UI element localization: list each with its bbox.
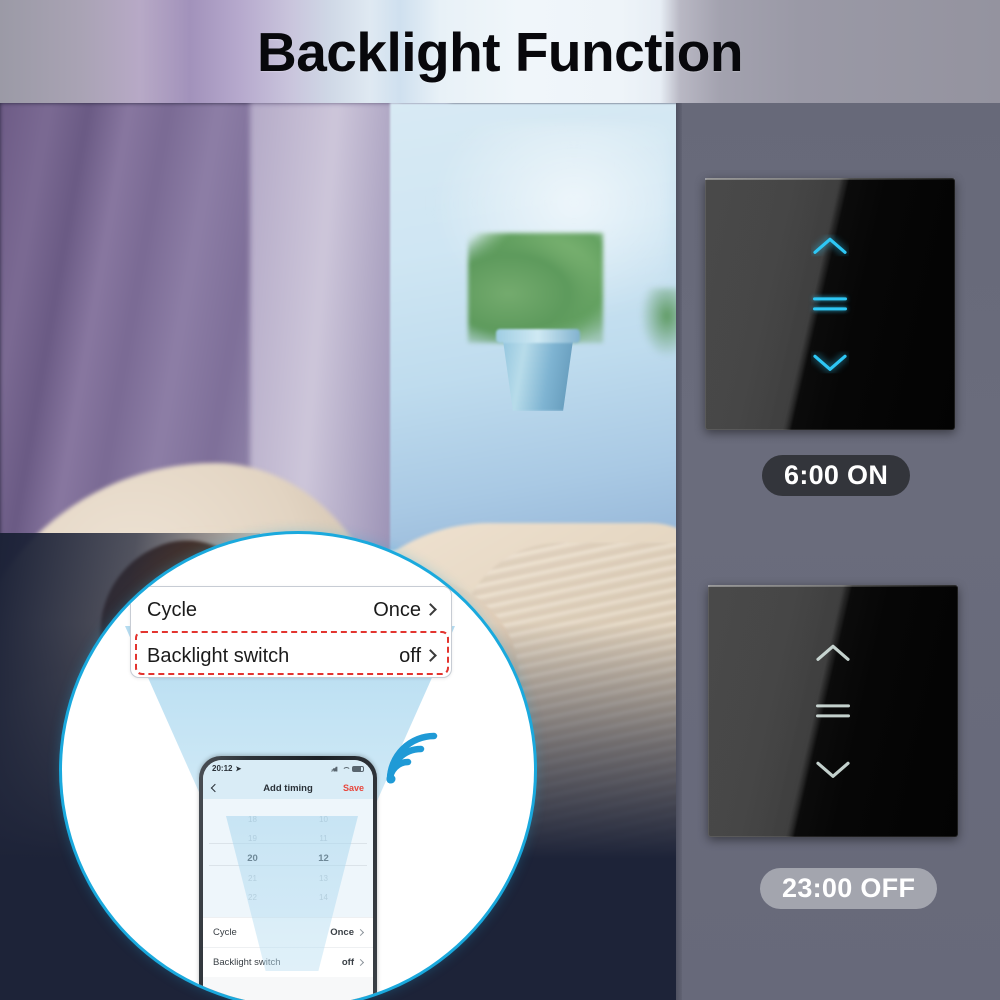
hour-selected: 20	[247, 853, 258, 864]
chevron-right-icon	[357, 959, 364, 966]
page-title: Backlight Function	[0, 0, 1000, 103]
status-bar-indicators	[331, 766, 364, 772]
panel-top-edge-highlight	[705, 178, 955, 180]
phone-cycle-value: Once	[330, 927, 354, 938]
hour-option: 21	[248, 874, 257, 883]
phone-backlight-label: Backlight switch	[213, 957, 281, 968]
cycle-label: Cycle	[147, 599, 197, 622]
hour-option: 22	[248, 893, 257, 902]
switch-led-icons	[814, 641, 852, 780]
phone-nav-bar: Add timing Save	[203, 777, 373, 799]
settings-row-cycle[interactable]: Cycle Once	[131, 587, 451, 633]
backlight-switch-label: Backlight switch	[147, 645, 289, 668]
magnifier-callout-circle: Cycle Once Backlight switch off	[62, 534, 534, 1000]
cycle-value-group: Once	[373, 599, 435, 622]
header-banner: Backlight Function	[0, 0, 1000, 103]
switch-led-icons	[811, 234, 849, 373]
hour-column[interactable]: 18 19 20 21 22	[247, 815, 258, 902]
status-bar-time: 20:12	[212, 764, 232, 773]
phone-status-bar: 20:12 ➤	[203, 760, 373, 777]
picker-line-top	[209, 843, 367, 844]
location-arrow-icon: ➤	[235, 765, 241, 773]
plant-pot	[500, 335, 576, 411]
smartphone-mockup: 20:12 ➤ Add timing Save	[199, 756, 377, 1000]
equals-icon[interactable]	[816, 704, 850, 717]
battery-icon	[352, 766, 364, 772]
chevron-up-icon[interactable]	[811, 234, 849, 256]
hour-option: 18	[248, 815, 257, 824]
chevron-down-icon[interactable]	[811, 352, 849, 374]
equals-bar-bottom	[816, 715, 850, 718]
product-infographic: Backlight Function	[0, 0, 1000, 1000]
wifi-dot	[387, 775, 396, 784]
chevron-right-icon	[424, 603, 437, 616]
chevron-down-icon[interactable]	[814, 759, 852, 781]
wifi-icon	[342, 766, 349, 772]
potted-plant-leaves	[468, 233, 603, 343]
minute-option: 13	[319, 874, 328, 883]
equals-bar-top	[816, 704, 850, 707]
status-badge-on: 6:00 ON	[762, 455, 910, 496]
phone-settings-list: Cycle Once Backlight switch off	[203, 917, 373, 977]
minute-option: 14	[319, 893, 328, 902]
chevron-right-icon	[357, 929, 364, 936]
backlight-value-group: off	[399, 645, 435, 668]
backlight-switch-value: off	[399, 645, 421, 668]
phone-screen: 20:12 ➤ Add timing Save	[203, 760, 373, 1000]
minute-column[interactable]: 10 11 12 13 14	[318, 815, 329, 902]
equals-icon[interactable]	[813, 297, 847, 310]
wall-switch-backlight-on[interactable]	[705, 178, 955, 430]
minute-selected: 12	[318, 853, 329, 864]
phone-row-cycle[interactable]: Cycle Once	[203, 917, 373, 947]
minute-option: 11	[319, 834, 327, 843]
phone-backlight-value-group: off	[342, 957, 363, 968]
time-picker[interactable]: 18 19 20 21 22 10 11 12 13 14	[203, 799, 373, 917]
equals-bar-top	[813, 297, 847, 300]
phone-row-backlight-switch[interactable]: Backlight switch off	[203, 947, 373, 977]
equals-bar-bottom	[813, 308, 847, 311]
wall-switch-backlight-off[interactable]	[708, 585, 958, 837]
settings-row-backlight-switch[interactable]: Backlight switch off	[131, 633, 451, 678]
status-badge-off: 23:00 OFF	[760, 868, 937, 909]
minute-option: 10	[319, 815, 328, 824]
hour-option: 19	[248, 834, 257, 843]
save-button[interactable]: Save	[343, 783, 364, 793]
cellular-signal-icon	[331, 766, 339, 772]
wifi-signal-icon	[384, 730, 444, 786]
chevron-right-icon	[424, 649, 437, 662]
phone-backlight-value: off	[342, 957, 354, 968]
cycle-value: Once	[373, 599, 421, 622]
phone-cycle-label: Cycle	[213, 927, 237, 938]
panel-top-edge-highlight	[708, 585, 958, 587]
picker-line-bottom	[209, 865, 367, 866]
phone-cycle-value-group: Once	[330, 927, 363, 938]
magnified-settings-card: Cycle Once Backlight switch off	[130, 586, 452, 678]
plant-pot-rim	[496, 329, 580, 343]
chevron-up-icon[interactable]	[814, 641, 852, 663]
